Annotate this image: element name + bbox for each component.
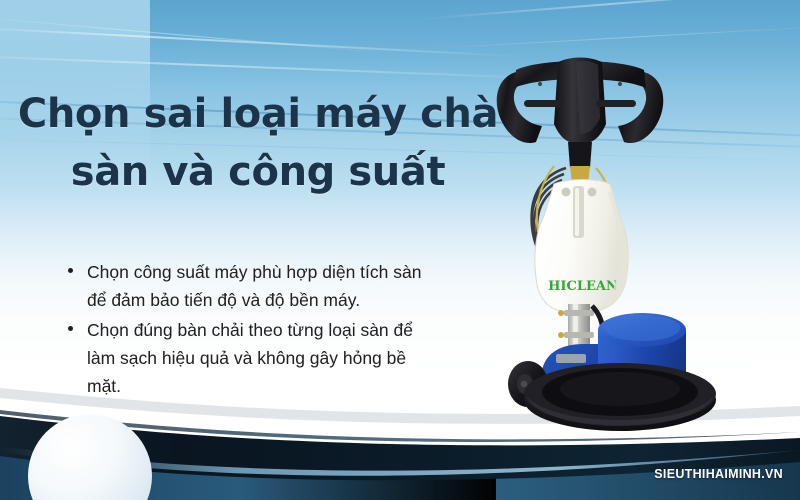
product-image-floor-scrubber: HICLEAN — [480, 18, 740, 438]
bullet-list: Chọn công suất máy phù hợp diện tích sàn… — [62, 258, 422, 402]
list-item: Chọn đúng bàn chải theo từng loại sàn để… — [62, 316, 422, 400]
page-title-line-1: Chọn sai loại máy chà — [0, 85, 516, 143]
slide-canvas: Chọn sai loại máy chà sàn và công suất C… — [0, 0, 800, 500]
list-item-text: Chọn công suất máy phù hợp diện tích sàn… — [87, 262, 421, 310]
page-title-line-2: sàn và công suất — [0, 143, 516, 201]
watermark-text: SIEUTHIHAIMINH.VN — [654, 467, 783, 481]
bullet-dot-icon — [68, 326, 73, 331]
machine-base-disc — [524, 363, 716, 431]
bullet-dot-icon — [68, 268, 73, 273]
brand-label: HICLEAN — [548, 279, 618, 294]
machine-handle — [497, 58, 664, 185]
list-item-text: Chọn đúng bàn chải theo từng loại sàn để… — [87, 320, 413, 396]
machine-solution-tank: HICLEAN — [535, 180, 628, 313]
floor-scrubber-illustration: HICLEAN — [480, 18, 740, 438]
list-item: Chọn công suất máy phù hợp diện tích sàn… — [62, 258, 422, 314]
page-title: Chọn sai loại máy chà sàn và công suất — [0, 85, 516, 201]
